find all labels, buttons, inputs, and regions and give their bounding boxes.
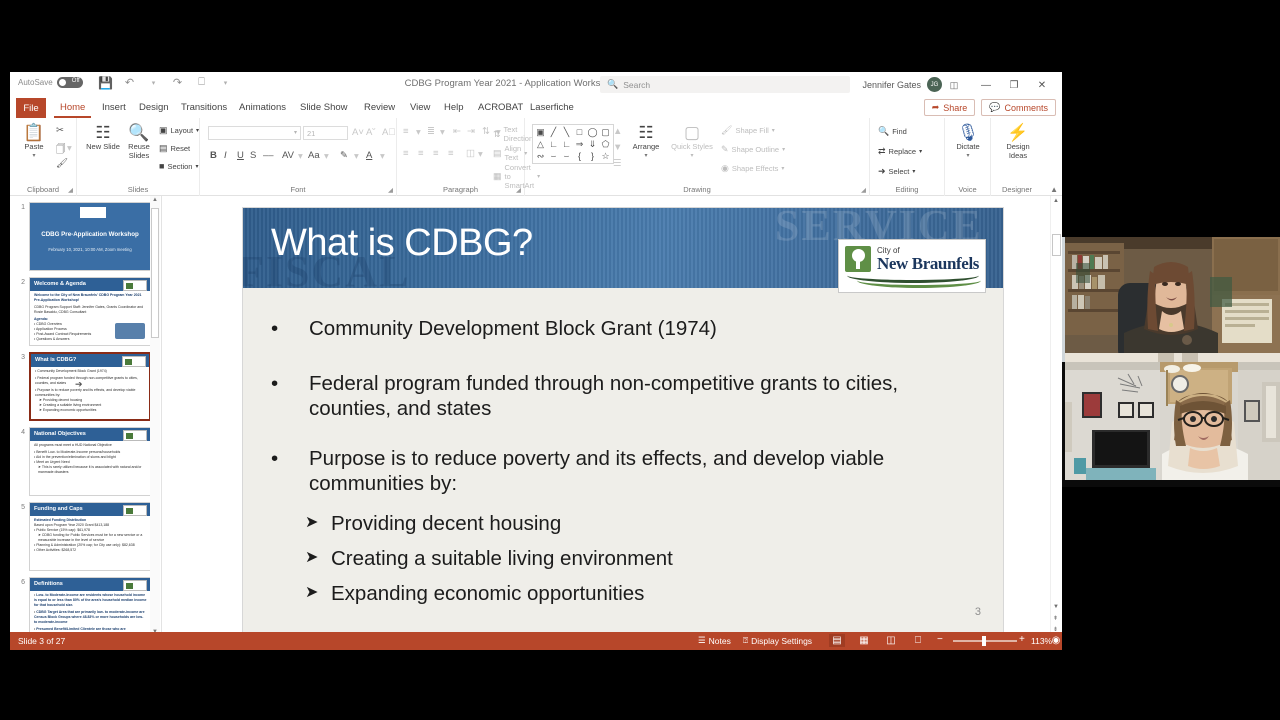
thumb-line: Benefit Low- to Moderate-Income persons/… (36, 450, 120, 454)
character-spacing-icon[interactable]: AV (282, 150, 294, 161)
zoom-out-button[interactable]: − (937, 634, 943, 645)
account-name: Jennifer Gates (862, 80, 921, 90)
tab-design[interactable]: Design (133, 98, 175, 118)
thumb-line: Low- to Moderate-Income are residents wh… (34, 593, 146, 607)
thumbnail-number: 5 (14, 502, 25, 571)
increase-indent-icon[interactable]: ⇥ (467, 126, 475, 137)
thumb-line: Meet an Urgent Need (36, 460, 69, 464)
group-voice: 🎙 Dictate ▾ Voice (945, 118, 991, 196)
thumb-line: This is rarely utilized because it is as… (38, 465, 141, 474)
shape-star-icon[interactable]: ☆ (599, 150, 612, 162)
ribbon-tabs: File Home Insert Design Transitions Anim… (10, 98, 1062, 118)
shape-outline-icon: ✎ (721, 144, 729, 155)
bullet-item-1: • Community Development Block Grant (197… (271, 316, 963, 341)
thumb-line: Purpose is to reduce poverty and its eff… (35, 388, 135, 397)
design-ideas-label: Design Ideas (999, 142, 1037, 160)
shape-triangle-icon[interactable]: △ (534, 138, 547, 150)
underline-icon[interactable]: U (237, 150, 244, 161)
font-dialog-launcher[interactable]: ◢ (388, 186, 393, 194)
thumb-line: Expanding economic opportunities (43, 408, 97, 412)
slide-sorter-icon[interactable]: ▦ (856, 634, 872, 647)
font-name-input[interactable]: ▾ (208, 126, 301, 140)
fit-slide-icon[interactable]: ◉ (1048, 634, 1062, 647)
thumb-line: Providing decent housing (43, 398, 82, 402)
comments-button[interactable]: 💬 Comments (981, 99, 1056, 116)
reuse-slides-label: Reuse Slides (121, 142, 157, 160)
search-placeholder: Search (623, 80, 650, 90)
thumb-body: All programs must meet a HUD National Ob… (34, 443, 147, 475)
scroll-up-icon[interactable]: ▲ (152, 197, 158, 203)
collapse-ribbon-icon[interactable]: ▲ (1050, 185, 1058, 194)
thumbnail-item-5[interactable]: 5 Funding and Caps Estimated Funding Dis… (14, 502, 154, 571)
group-label-designer: Designer (991, 185, 1043, 194)
clear-formatting-icon[interactable]: A⃠ (382, 127, 395, 138)
thumb-line: Agenda: (34, 317, 48, 321)
thumb-logo (123, 280, 147, 291)
font-size-input[interactable]: 21 (303, 126, 348, 140)
align-right-icon[interactable]: ≡ (433, 148, 439, 159)
minimize-button[interactable]: — (972, 76, 1000, 94)
participant-1-feed (1062, 237, 1280, 362)
drawing-dialog-launcher[interactable]: ◢ (861, 186, 866, 194)
sub-bullet-marker: ➤ (305, 547, 318, 567)
sub-bullet-text: Creating a suitable living environment (331, 547, 963, 571)
shape-line-icon[interactable]: ╱ (547, 126, 560, 138)
thumbnail-slide-selected[interactable]: What is CDBG? • Community Development Bl… (29, 352, 151, 421)
normal-view-icon[interactable]: ▤ (829, 634, 845, 647)
sub-bullet-marker: ➤ (305, 512, 318, 532)
screen: AutoSave Off 💾 ↶ ▾ ↷ ⎕ ▾ CDBG Program Ye… (0, 0, 1280, 720)
thumb-line: Presumed Benefit/Limited Clientele are t… (36, 627, 125, 631)
display-settings-label: Display Settings (751, 636, 812, 646)
thumb-logo (80, 207, 106, 218)
group-label-drawing: Drawing (525, 185, 869, 194)
shape-elbow-icon[interactable]: ∟ (547, 138, 560, 150)
thumb-logo (122, 356, 146, 367)
thumb-title: CDBG Pre-Application Workshop (30, 231, 150, 238)
thumb-subtitle: February 10, 2021, 10:00 AM, Zoom meetin… (30, 247, 150, 252)
scroll-up-icon[interactable]: ▲ (1053, 198, 1059, 204)
status-bar: Slide 3 of 27 ☰ Notes ⍰ Display Settings… (10, 632, 1062, 650)
thumb-line: Application Process (36, 327, 67, 331)
thumbnail-slide[interactable]: Welcome & Agenda Welcome to the City of … (29, 277, 151, 346)
slide-canvas-pane: SERVICE FISCAL What is CDBG? City of New… (163, 196, 1062, 636)
close-button[interactable]: ✕ (1028, 76, 1056, 94)
thumbnail-item-1[interactable]: 1 CDBG Pre-Application Workshop February… (14, 202, 154, 271)
find-button[interactable]: 🔍 Find (878, 126, 907, 137)
align-left-icon[interactable]: ≡ (403, 148, 409, 159)
change-case-icon[interactable]: Aa (308, 150, 320, 161)
group-label-paragraph: Paragraph (397, 185, 524, 194)
thumb-line: Estimated Funding Distribution (34, 518, 86, 522)
bullet-text: Federal program funded through non-compe… (309, 371, 963, 421)
logo-swoosh-green (857, 279, 981, 288)
group-label-font: Font (200, 185, 396, 194)
text-highlight-color-icon[interactable]: ✎ (340, 150, 348, 161)
thumbnail-slide[interactable]: Funding and Caps Estimated Funding Distr… (29, 502, 151, 571)
bullet-item-2: • Federal program funded through non-com… (271, 371, 963, 421)
bullet-text: Community Development Block Grant (1974) (309, 316, 963, 341)
text-shadow-icon[interactable]: S (250, 150, 256, 161)
reset-label: Reset (171, 144, 191, 153)
bullet-marker: • (271, 371, 278, 396)
reuse-slides-icon: 🔍 (128, 124, 149, 141)
shapes-more-icon[interactable]: ☰ (613, 158, 622, 169)
font-name-dropdown-icon[interactable]: ▾ (294, 129, 297, 136)
share-button[interactable]: ➦ Share (924, 99, 976, 116)
thumb-line: Questions & Answers (36, 337, 69, 341)
thumbnail-number: 1 (14, 202, 25, 271)
thumb-line: Post-Award Contract Requirements (36, 332, 91, 336)
shape-arc-icon[interactable]: ⌣ (560, 150, 573, 162)
participant-2-feed (1062, 362, 1280, 487)
tree-icon (845, 246, 871, 272)
align-text-label: Align Text (505, 144, 522, 162)
title-bar: AutoSave Off 💾 ↶ ▾ ↷ ⎕ ▾ CDBG Program Ye… (10, 72, 1062, 98)
increase-font-size-icon[interactable]: A˅ (352, 127, 364, 138)
find-label: Find (892, 127, 907, 136)
slideshow-icon[interactable]: ⎕ (910, 634, 926, 647)
replace-icon: ⇄ (878, 146, 886, 157)
reading-view-icon[interactable]: ◫ (883, 634, 899, 647)
share-label: Share (943, 103, 967, 113)
tab-animations[interactable]: Animations (233, 98, 292, 118)
change-case-dropdown-icon[interactable]: ▾ (324, 151, 329, 162)
tab-transitions[interactable]: Transitions (175, 98, 233, 118)
bullet-marker: • (271, 446, 278, 471)
align-center-icon[interactable]: ≡ (418, 148, 424, 159)
thumb-line: Public Service (15% cap): $61,978 (36, 528, 90, 532)
copy-icon[interactable]: 🗍 (56, 142, 66, 158)
copy-dropdown-icon[interactable]: ▾ (67, 143, 72, 154)
thumb-line: Creating a suitable living environment (43, 403, 101, 407)
group-clipboard: 📋 Paste ▾ ✂ 🗍 ▾ 🖌 Clipboard ◢ (10, 118, 77, 196)
shape-fill-icon: 🖌 (721, 125, 732, 136)
thumb-line: CDBG funding for Public Services must be… (38, 533, 142, 542)
thumbnails-scrollbar[interactable]: ▲ ▼ (150, 196, 160, 636)
new-slide-icon: ☷ (95, 124, 110, 141)
design-ideas-icon: ⚡ (1007, 124, 1028, 141)
shape-effects-icon: ◉ (721, 163, 729, 174)
shape-effects-label: Shape Effects (732, 164, 779, 173)
shape-effects-button[interactable]: ◉ Shape Effects ▾ (721, 163, 784, 174)
account-area[interactable]: Jennifer Gates JG (862, 77, 942, 92)
share-icon: ➦ (932, 102, 940, 113)
shape-fill-button[interactable]: 🖌 Shape Fill ▾ (721, 125, 775, 136)
group-designer: ⚡ Design Ideas Designer (991, 118, 1043, 196)
scrollbar-thumb[interactable] (1052, 234, 1061, 256)
search-icon: 🔍 (607, 79, 618, 90)
dictate-button[interactable]: 🎙 Dictate ▾ (950, 124, 986, 159)
video-participant-1[interactable] (1062, 237, 1280, 362)
slide-thumbnails-pane[interactable]: 1 CDBG Pre-Application Workshop February… (10, 196, 162, 636)
character-spacing-dropdown-icon[interactable]: ▾ (298, 151, 303, 162)
thumbnail-item-2[interactable]: 2 Welcome & Agenda Welcome to the City o… (14, 277, 154, 346)
layout-button[interactable]: ▣ Layout ▾ (159, 125, 199, 136)
section-button[interactable]: ■ Section ▾ (159, 161, 198, 171)
thumb-line: CDBG Target Area that are primarily low-… (34, 610, 145, 624)
scroll-down-icon[interactable]: ▼ (1053, 604, 1059, 610)
thumbnail-slide[interactable]: Definitions • Low- to Moderate-Income ar… (29, 577, 151, 636)
zoom-slider-handle[interactable] (982, 636, 986, 646)
thumb-line: Community Development Block Grant (1974) (37, 369, 107, 373)
video-participant-2[interactable] (1062, 362, 1280, 487)
replace-label: Replace (889, 147, 917, 156)
chevron-down-icon[interactable]: ▾ (32, 152, 35, 159)
thumb-line: Federal program funded through non-compe… (35, 376, 138, 385)
line-spacing-icon[interactable]: ⇅ (482, 126, 490, 137)
thumb-line: Other Activities: $268,572 (36, 548, 76, 552)
highlight-dropdown-icon[interactable]: ▾ (354, 151, 359, 162)
shape-right-brace-icon[interactable]: } (586, 150, 599, 162)
select-button[interactable]: ➜ Select ▾ (878, 166, 915, 177)
bullet-marker: • (271, 316, 278, 341)
smartart-icon: ▦ (493, 171, 502, 182)
ribbon-display-options-icon[interactable]: ◫ (940, 76, 968, 94)
tab-view[interactable]: View (404, 98, 436, 118)
new-slide-label: New Slide (86, 142, 120, 151)
tab-home[interactable]: Home (54, 98, 91, 118)
arrange-icon: ☷ (638, 124, 653, 141)
text-direction-icon: ⇅ (493, 129, 501, 140)
thumb-logo (123, 580, 147, 591)
arrange-button[interactable]: ☷ Arrange ▾ (625, 124, 667, 159)
quick-styles-button[interactable]: ▢ Quick Styles ▾ (671, 124, 713, 159)
slide-counter: Slide 3 of 27 (18, 636, 65, 646)
font-color-dropdown-icon[interactable]: ▾ (380, 151, 385, 162)
cut-icon[interactable]: ✂ (56, 125, 64, 136)
replace-button[interactable]: ⇄ Replace ▾ (878, 146, 922, 157)
numbering-icon[interactable]: ≣ (427, 126, 435, 137)
group-editing: 🔍 Find ⇄ Replace ▾ ➜ Select ▾ Editing (870, 118, 945, 196)
search-icon: 🔍 (878, 126, 889, 137)
shapes-gallery[interactable]: ▣ ╱ ╲ □ ◯ ▢ △ ∟ ∟ ⇒ ⇓ ⬠ ∾ ⌣ ⌣ { } (532, 124, 614, 164)
restore-button[interactable]: ❐ (1000, 76, 1028, 94)
numbering-dropdown-icon[interactable]: ▾ (440, 127, 445, 138)
strikethrough-icon[interactable]: ‒‒ (263, 150, 274, 161)
group-drawing: ▣ ╱ ╲ □ ◯ ▢ △ ∟ ∟ ⇒ ⇓ ⬠ ∾ ⌣ ⌣ { } (525, 118, 870, 196)
comment-icon: 💬 (989, 102, 1000, 113)
align-text-button[interactable]: ▤ Align Text ▾ (493, 144, 527, 162)
tab-slide-show[interactable]: Slide Show (294, 98, 354, 118)
shape-fill-label: Shape Fill (735, 126, 768, 135)
scrollbar-thumb[interactable] (151, 208, 159, 338)
arrange-label: Arrange (633, 142, 660, 151)
sub-bullet-text: Providing decent housing (331, 512, 963, 536)
group-label-editing: Editing (870, 185, 944, 194)
thumb-logo (123, 505, 147, 516)
new-slide-button[interactable]: ☷ New Slide (85, 124, 121, 151)
display-settings-button[interactable]: ⍰ Display Settings (743, 635, 812, 646)
thumb-cover-bg: CDBG Pre-Application Workshop February 1… (30, 203, 150, 270)
quick-styles-label: Quick Styles (671, 142, 713, 151)
comments-label: Comments (1004, 103, 1048, 113)
reuse-slides-button[interactable]: 🔍 Reuse Slides (121, 124, 157, 160)
thumbnail-item-3[interactable]: 3 What is CDBG? • Community Development … (14, 352, 154, 421)
thumbnail-item-4[interactable]: 4 National Objectives All programs must … (14, 427, 154, 496)
columns-dropdown-icon[interactable]: ▾ (478, 149, 483, 160)
bullets-icon[interactable]: ≡ (403, 126, 409, 137)
align-text-icon: ▤ (493, 148, 502, 159)
bold-icon[interactable]: B (210, 150, 217, 161)
thumbnail-item-6[interactable]: 6 Definitions • Low- to Moderate-Income … (14, 577, 154, 636)
thumb-line: Planning & Administration (20% cap; for … (36, 543, 134, 547)
thumb-line: All programs must meet a HUD National Ob… (34, 443, 147, 448)
group-label-clipboard: Clipboard (10, 185, 76, 194)
shape-oval-icon[interactable]: ◯ (586, 126, 599, 138)
bullets-dropdown-icon[interactable]: ▾ (416, 127, 421, 138)
slide-scrollbar[interactable]: ▲ ▼ ⇞ ⇟ (1050, 196, 1061, 636)
notes-button[interactable]: ☰ Notes (698, 635, 731, 646)
search-input[interactable]: 🔍 Search (600, 76, 850, 93)
logo-name-label: New Braunfels (877, 254, 979, 274)
decrease-font-size-icon[interactable]: A˘ (366, 127, 376, 138)
italic-icon[interactable]: I (224, 150, 227, 161)
design-ideas-button[interactable]: ⚡ Design Ideas (999, 124, 1037, 160)
shape-pentagon-icon[interactable]: ⬠ (599, 138, 612, 150)
powerpoint-window: AutoSave Off 💾 ↶ ▾ ↷ ⎕ ▾ CDBG Program Ye… (10, 72, 1062, 650)
cursor-icon: ➜ (878, 166, 886, 177)
shapes-scroll-up-icon[interactable]: ▲ (613, 126, 622, 137)
justify-icon[interactable]: ≡ (448, 148, 454, 159)
mouse-cursor-icon: ➔ (75, 379, 83, 390)
bullet-item-3: • Purpose is to reduce poverty and its e… (271, 446, 963, 496)
sub-bullet-text: Expanding economic opportunities (331, 582, 963, 606)
reset-icon: ▤ (159, 143, 168, 154)
thumbnail-slide[interactable]: National Objectives All programs must me… (29, 427, 151, 496)
section-label: Section (167, 162, 192, 171)
layout-label: Layout (171, 126, 194, 135)
thumb-line: CDBG Program Support Staff: Jennifer Gat… (34, 305, 147, 315)
group-paragraph: ≡ ▾ ≣ ▾ ⇤ ⇥ ⇅ ▾ ≡ ≡ ≡ ≡ ◫ ▾ ⇅ Text Direc… (397, 118, 525, 196)
sub-bullet-marker: ➤ (305, 582, 318, 602)
slide-page-number: 3 (975, 606, 981, 618)
thumb-line: CDBG Overview (36, 322, 62, 326)
shapes-scroll-down-icon[interactable]: ▼ (613, 142, 622, 153)
thumb-line: Welcome to the City of New Braunfels' CD… (34, 293, 142, 302)
thumb-body: Estimated Funding Distribution Based upo… (34, 518, 147, 553)
columns-icon[interactable]: ◫ (466, 148, 475, 159)
format-painter-icon[interactable]: 🖌 (56, 158, 68, 169)
thumbnail-number: 6 (14, 577, 25, 636)
tab-help[interactable]: Help (438, 98, 470, 118)
thumb-line: Aid in the prevention/elimination of slu… (36, 455, 116, 459)
tab-acrobat[interactable]: ACROBAT (472, 98, 529, 118)
thumb-body: • Low- to Moderate-Income are residents … (34, 593, 147, 632)
shape-rect-icon[interactable]: □ (573, 126, 586, 138)
cdbg-logo-icon (115, 323, 145, 339)
dictate-label: Dictate (956, 142, 979, 151)
shape-outline-button[interactable]: ✎ Shape Outline ▾ (721, 144, 785, 155)
notes-label: Notes (709, 636, 731, 646)
current-slide[interactable]: SERVICE FISCAL What is CDBG? City of New… (243, 208, 1003, 632)
notes-icon: ☰ (698, 635, 706, 646)
thumbnail-number: 3 (14, 352, 25, 421)
thumbnail-number: 2 (14, 277, 25, 346)
work-area: 1 CDBG Pre-Application Workshop February… (10, 196, 1062, 636)
shape-arrow-icon[interactable]: ╲ (560, 126, 573, 138)
paste-button[interactable]: 📋 Paste ▾ (16, 124, 52, 159)
display-settings-icon: ⍰ (743, 635, 748, 646)
reset-button[interactable]: ▤ Reset (159, 143, 190, 154)
microphone-icon: 🎙 (957, 124, 979, 141)
thumbnail-slide[interactable]: CDBG Pre-Application Workshop February 1… (29, 202, 151, 271)
layout-icon: ▣ (159, 125, 168, 136)
shape-curve-icon[interactable]: ⌣ (547, 150, 560, 162)
shape-connector-icon[interactable]: ∟ (560, 138, 573, 150)
shape-outline-label: Shape Outline (732, 145, 780, 154)
shape-rounded-icon[interactable]: ▢ (599, 126, 612, 138)
group-label-slides: Slides (77, 185, 199, 194)
shape-textbox-icon[interactable]: ▣ (534, 126, 547, 138)
quick-styles-icon: ▢ (684, 124, 700, 141)
paragraph-dialog-launcher[interactable]: ◢ (516, 186, 521, 194)
shape-down-arrow-icon[interactable]: ⇓ (586, 138, 599, 150)
tab-insert[interactable]: Insert (96, 98, 132, 118)
paste-label: Paste (24, 142, 43, 151)
bullet-text: Purpose is to reduce poverty and its eff… (309, 446, 963, 496)
section-icon: ■ (159, 161, 164, 171)
tab-laserfiche[interactable]: Laserfiche (524, 98, 580, 118)
paste-icon: 📋 (23, 124, 44, 141)
zoom-in-button[interactable]: + (1019, 634, 1025, 645)
thumbnail-number: 4 (14, 427, 25, 496)
decrease-indent-icon[interactable]: ⇤ (453, 126, 461, 137)
ribbon: 📋 Paste ▾ ✂ 🗍 ▾ 🖌 Clipboard ◢ ☷ New Slid… (10, 118, 1062, 196)
tab-file[interactable]: File (16, 98, 46, 118)
shape-scribble-icon[interactable]: ∾ (534, 150, 547, 162)
group-font: ▾ 21 A˅ A˘ A⃠ B I U S ‒‒ AV ▾ Aa ▾ ✎ ▾ A… (200, 118, 397, 196)
thumb-logo (123, 430, 147, 441)
sub-bullet-item-3: ➤ Expanding economic opportunities (305, 582, 963, 606)
sub-bullet-item-1: ➤ Providing decent housing (305, 512, 963, 536)
clipboard-dialog-launcher[interactable]: ◢ (68, 186, 73, 194)
slide-title: What is CDBG? (271, 222, 533, 265)
previous-slide-icon[interactable]: ⇞ (1053, 615, 1058, 622)
select-label: Select (889, 167, 910, 176)
font-color-icon[interactable]: A (366, 150, 372, 161)
group-label-voice: Voice (945, 185, 990, 194)
thumb-body: • Community Development Block Grant (197… (35, 369, 146, 413)
tab-review[interactable]: Review (358, 98, 401, 118)
shape-right-arrow-icon[interactable]: ⇒ (573, 138, 586, 150)
shape-left-brace-icon[interactable]: { (573, 150, 586, 162)
group-slides: ☷ New Slide 🔍 Reuse Slides ▣ Layout ▾ ▤ … (77, 118, 200, 196)
city-of-new-braunfels-logo: City of New Braunfels (838, 239, 986, 293)
sub-bullet-item-2: ➤ Creating a suitable living environment (305, 547, 963, 571)
